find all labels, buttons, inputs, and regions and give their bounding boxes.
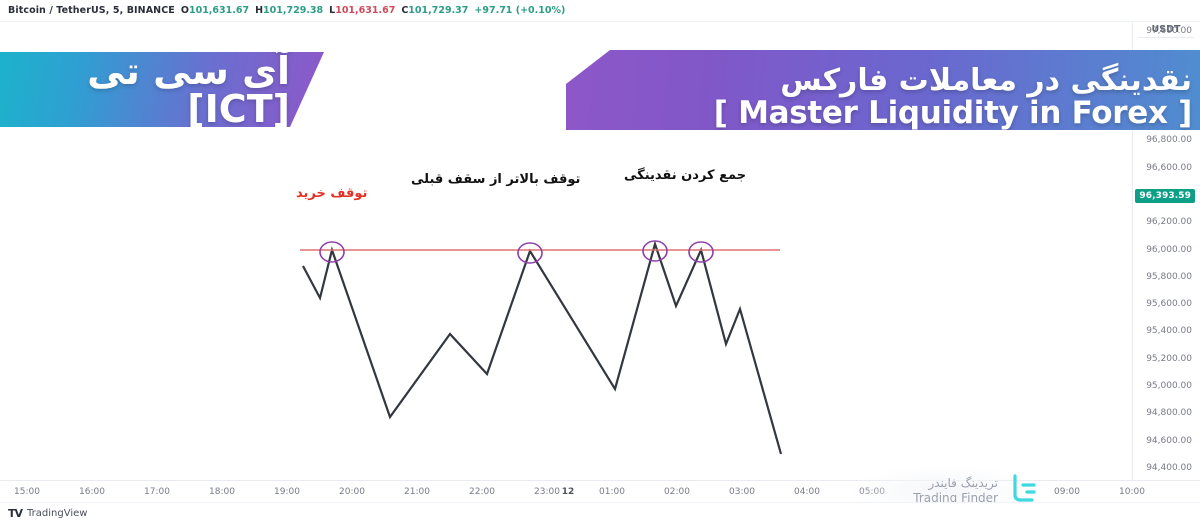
time-tick: 16:00 bbox=[79, 487, 105, 497]
banner-title-line-en: [ Master Liquidity in Forex ] bbox=[714, 97, 1192, 130]
time-tick: 17:00 bbox=[144, 487, 170, 497]
price-tick: 96,600.00 bbox=[1138, 163, 1192, 173]
time-tick: 09:00 bbox=[1054, 487, 1080, 497]
ohlc-high: H101,729.38 bbox=[255, 5, 323, 16]
price-tick: 94,800.00 bbox=[1138, 408, 1192, 418]
close-value: 101,729.37 bbox=[408, 5, 468, 16]
time-tick: 21:00 bbox=[404, 487, 430, 497]
price-tick: 95,400.00 bbox=[1138, 326, 1192, 336]
high-value: 101,729.38 bbox=[263, 5, 323, 16]
price-tick: 95,600.00 bbox=[1138, 299, 1192, 309]
annotation-stop-above-previous-high: توقف بالاتر از سقف قبلی bbox=[411, 172, 580, 187]
price-tick: 97,600.00 bbox=[1138, 26, 1192, 36]
annotation-liquidity-grab: جمع کردن نقدینگی bbox=[624, 168, 746, 183]
time-tick: 18:00 bbox=[209, 487, 235, 497]
tf-logo-svg bbox=[1006, 471, 1040, 505]
price-line bbox=[303, 244, 781, 454]
price-tick: 94,400.00 bbox=[1138, 463, 1192, 473]
price-tick: 95,200.00 bbox=[1138, 354, 1192, 364]
symbol-info-bar: Bitcoin / TetherUS, 5, BINANCE O101,631.… bbox=[0, 0, 1200, 22]
tradingview-logo-icon: TV bbox=[8, 507, 22, 520]
open-label: O bbox=[181, 5, 189, 16]
open-value: 101,631.67 bbox=[189, 5, 249, 16]
price-tick: 95,800.00 bbox=[1138, 272, 1192, 282]
time-tick: 04:00 bbox=[794, 487, 820, 497]
time-tick: 10:00 bbox=[1119, 487, 1145, 497]
price-tick: 96,200.00 bbox=[1138, 217, 1192, 227]
price-tick: 96,800.00 bbox=[1138, 135, 1192, 145]
low-value: 101,631.67 bbox=[335, 5, 395, 16]
time-tick: 03:00 bbox=[729, 487, 755, 497]
price-tick: 95,000.00 bbox=[1138, 381, 1192, 391]
status-bar: TV TradingView bbox=[0, 502, 1200, 524]
high-label: H bbox=[255, 5, 263, 16]
ohlc-close: C101,729.37 bbox=[401, 5, 468, 16]
time-tick: 23:00 bbox=[534, 487, 560, 497]
time-tick: 02:00 bbox=[664, 487, 690, 497]
time-tick: 22:00 bbox=[469, 487, 495, 497]
banner-title: نقدینگی در معاملات فارکس [ Master Liquid… bbox=[566, 50, 1200, 130]
annotation-buy-stop: توقف خرید bbox=[296, 186, 367, 201]
banner-title-line-fa: نقدینگی در معاملات فارکس bbox=[780, 64, 1192, 98]
ohlc-open: O101,631.67 bbox=[181, 5, 249, 16]
price-change: +97.71 (+0.10%) bbox=[474, 5, 565, 16]
price-tick: 94,600.00 bbox=[1138, 436, 1192, 446]
watermark-text-fa: تریدینگ فایندر bbox=[913, 476, 998, 491]
time-tick: 19:00 bbox=[274, 487, 300, 497]
price-tick: 96,000.00 bbox=[1138, 245, 1192, 255]
ohlc-low: L101,631.67 bbox=[329, 5, 395, 16]
time-tick: 12 bbox=[562, 487, 575, 497]
symbol-title[interactable]: Bitcoin / TetherUS, 5, BINANCE bbox=[8, 5, 175, 16]
current-price-badge[interactable]: 96,393.59 bbox=[1135, 189, 1195, 203]
time-tick: 15:00 bbox=[14, 487, 40, 497]
banner-ict-text: آی سی تی [ICT] bbox=[0, 52, 290, 128]
time-tick: 20:00 bbox=[339, 487, 365, 497]
tradingview-brand-label[interactable]: TradingView bbox=[27, 508, 87, 519]
time-tick: 01:00 bbox=[599, 487, 625, 497]
banner-ict: آی سی تی [ICT] bbox=[0, 52, 324, 127]
